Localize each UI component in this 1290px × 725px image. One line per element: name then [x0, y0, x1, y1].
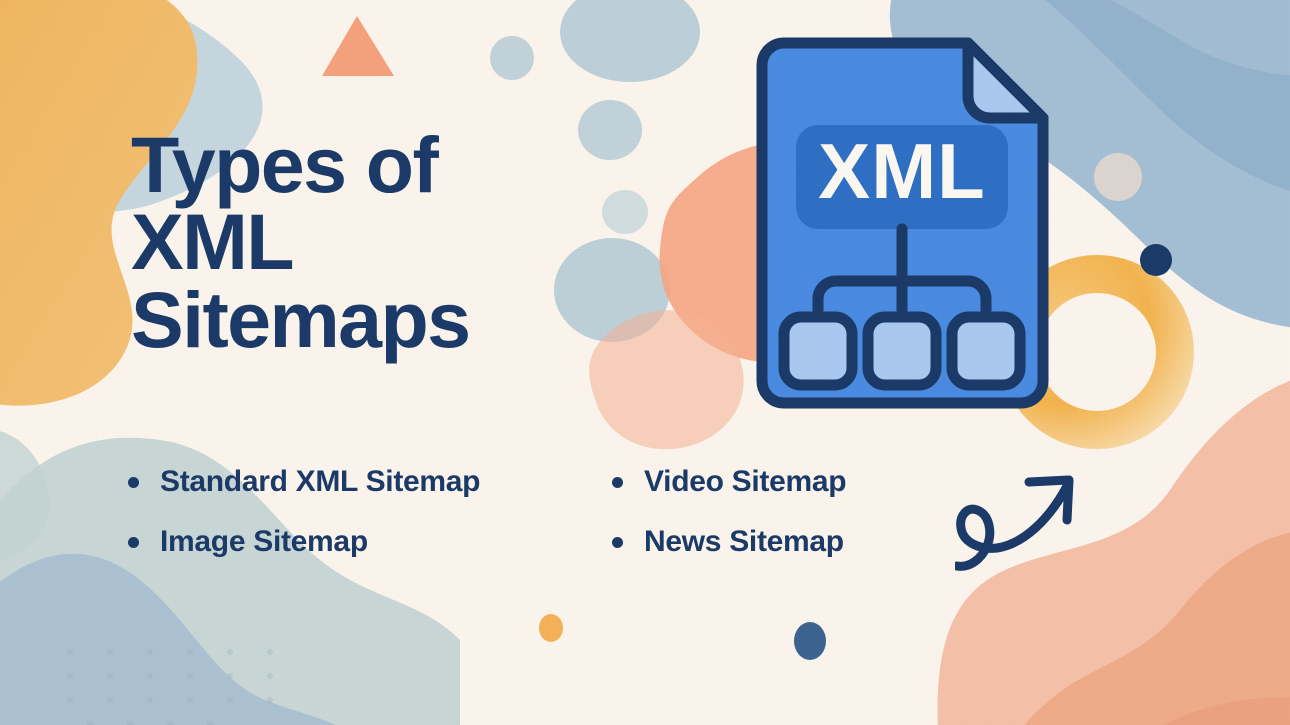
amber-dot-small: [539, 614, 563, 642]
page-title: Types of XML Sitemaps: [131, 126, 651, 358]
arrow-loop-tail: [957, 486, 1067, 566]
list-item: Standard XML Sitemap: [128, 452, 588, 512]
list-item: News Sitemap: [612, 512, 942, 572]
title-line-2: XML: [131, 203, 651, 280]
decor-circle-1: [560, 0, 700, 82]
list-item-label: Image Sitemap: [160, 525, 368, 559]
bullet-dot-icon: [128, 537, 139, 548]
steel-dot-small: [794, 622, 826, 660]
beige-circle: [1094, 153, 1142, 201]
sitemap-types-list-right: Video Sitemap News Sitemap: [612, 452, 942, 572]
title-line-3: Sitemaps: [131, 281, 651, 358]
folded-corner-shape: [968, 43, 1043, 118]
sitemap-node: [784, 317, 852, 385]
list-item: Video Sitemap: [612, 452, 942, 512]
infographic-canvas: Types of XML Sitemaps Standard XML Sitem…: [0, 0, 1290, 725]
list-item-label: Video Sitemap: [644, 465, 846, 499]
title-line-1: Types of: [131, 126, 651, 203]
sitemap-types-list-left: Standard XML Sitemap Image Sitemap: [128, 452, 588, 572]
list-item: Image Sitemap: [128, 512, 588, 572]
list-item-label: News Sitemap: [644, 525, 844, 559]
xml-badge-label: XML: [818, 127, 986, 215]
decor-circle-2: [490, 36, 534, 80]
sitemap-node: [952, 317, 1020, 385]
navy-dot-right: [1140, 244, 1172, 276]
bullet-dot-icon: [612, 537, 623, 548]
triangle-shape: [322, 16, 394, 76]
sitemap-node: [868, 317, 936, 385]
list-item-label: Standard XML Sitemap: [160, 465, 480, 499]
bullet-dot-icon: [612, 477, 623, 488]
xml-file-sitemap-icon: XML: [740, 35, 1065, 425]
bullet-dot-icon: [128, 477, 139, 488]
curly-up-right-arrow-icon: [955, 448, 1090, 583]
